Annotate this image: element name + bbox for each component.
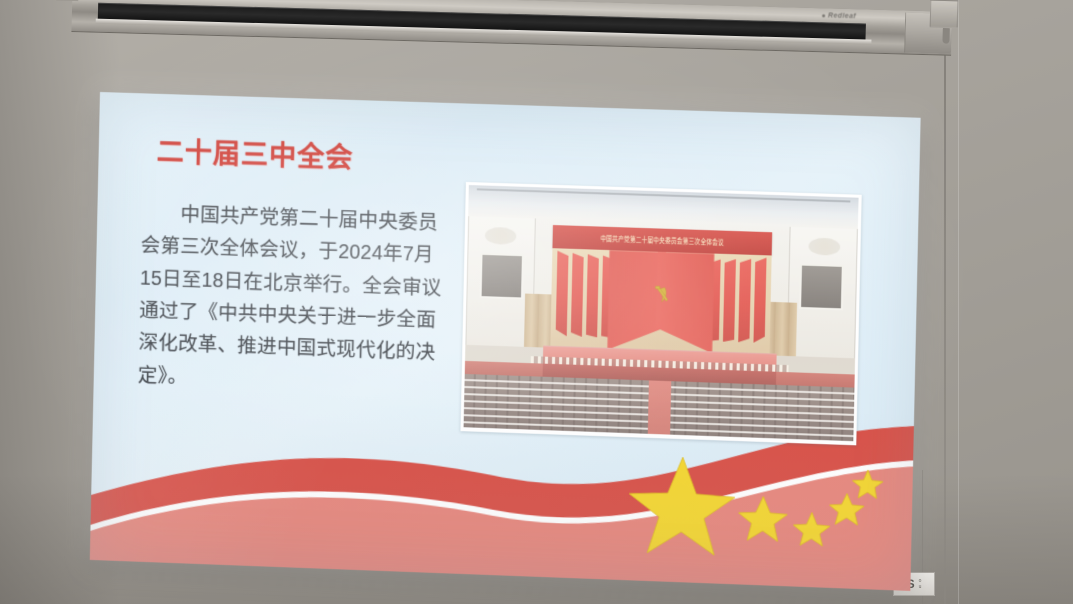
- hammer-and-sickle-icon: [646, 281, 675, 308]
- wall-panel-right: [799, 264, 843, 311]
- red-flag: [555, 251, 569, 337]
- star-small-1-icon: [738, 496, 788, 542]
- wall-panel-left: [480, 253, 524, 300]
- wall-plate-sublines: o u: [919, 579, 922, 590]
- five-star-group: [628, 447, 885, 567]
- wall-seam-line: [944, 0, 946, 604]
- red-flag: [753, 257, 767, 343]
- photo-inner: 中国共产党第二十届中央委员会第三次全体会议: [464, 185, 859, 441]
- star-small-4-icon: [852, 469, 883, 498]
- meeting-banner-text: 中国共产党第二十届中央委员会第三次全体会议: [600, 234, 724, 247]
- stage-backdrop: [551, 248, 771, 355]
- projected-slide-area[interactable]: 二十届三中全会 中国共产党第二十届中央委员会第三次全体会议，于2024年7月15…: [90, 92, 921, 591]
- wall-medallion-left-icon: [485, 227, 516, 245]
- red-flag: [722, 256, 736, 342]
- red-flag: [571, 251, 585, 337]
- slide-title: 二十届三中全会: [156, 130, 354, 175]
- roller-bracket-right: [930, 0, 959, 28]
- star-large-icon: [628, 455, 736, 556]
- presentation-slide[interactable]: 二十届三中全会 中国共产党第二十届中央委员会第三次全体会议，于2024年7月15…: [90, 92, 921, 591]
- slide-photo[interactable]: 中国共产党第二十届中央委员会第三次全体会议: [460, 182, 861, 445]
- center-aisle-carpet: [648, 380, 671, 434]
- projector-brand-label: Redleaf: [822, 12, 856, 20]
- wall-plate-sub-bottom: u: [919, 585, 922, 590]
- star-small-2-icon: [793, 512, 830, 547]
- red-flag: [738, 257, 752, 343]
- ceiling-trim-line: [477, 188, 851, 202]
- classroom-projection-scene: Redleaf S o u 二十届三中全会 中国共产党第二十届中央委员会第三次全…: [0, 0, 1073, 604]
- wall-medallion-right-icon: [808, 237, 840, 255]
- roller-endcap-knob[interactable]: [942, 26, 949, 44]
- brand-text: Redleaf: [828, 12, 856, 20]
- wall-seam-highlight: [958, 0, 959, 604]
- red-flag: [586, 252, 600, 338]
- slide-body-text: 中国共产党第二十届中央委员会第三次全体会议，于2024年7月15日至18日在北京…: [137, 197, 453, 402]
- brand-dot-icon: [822, 14, 825, 17]
- wall-plate-sub-top: o: [919, 579, 922, 584]
